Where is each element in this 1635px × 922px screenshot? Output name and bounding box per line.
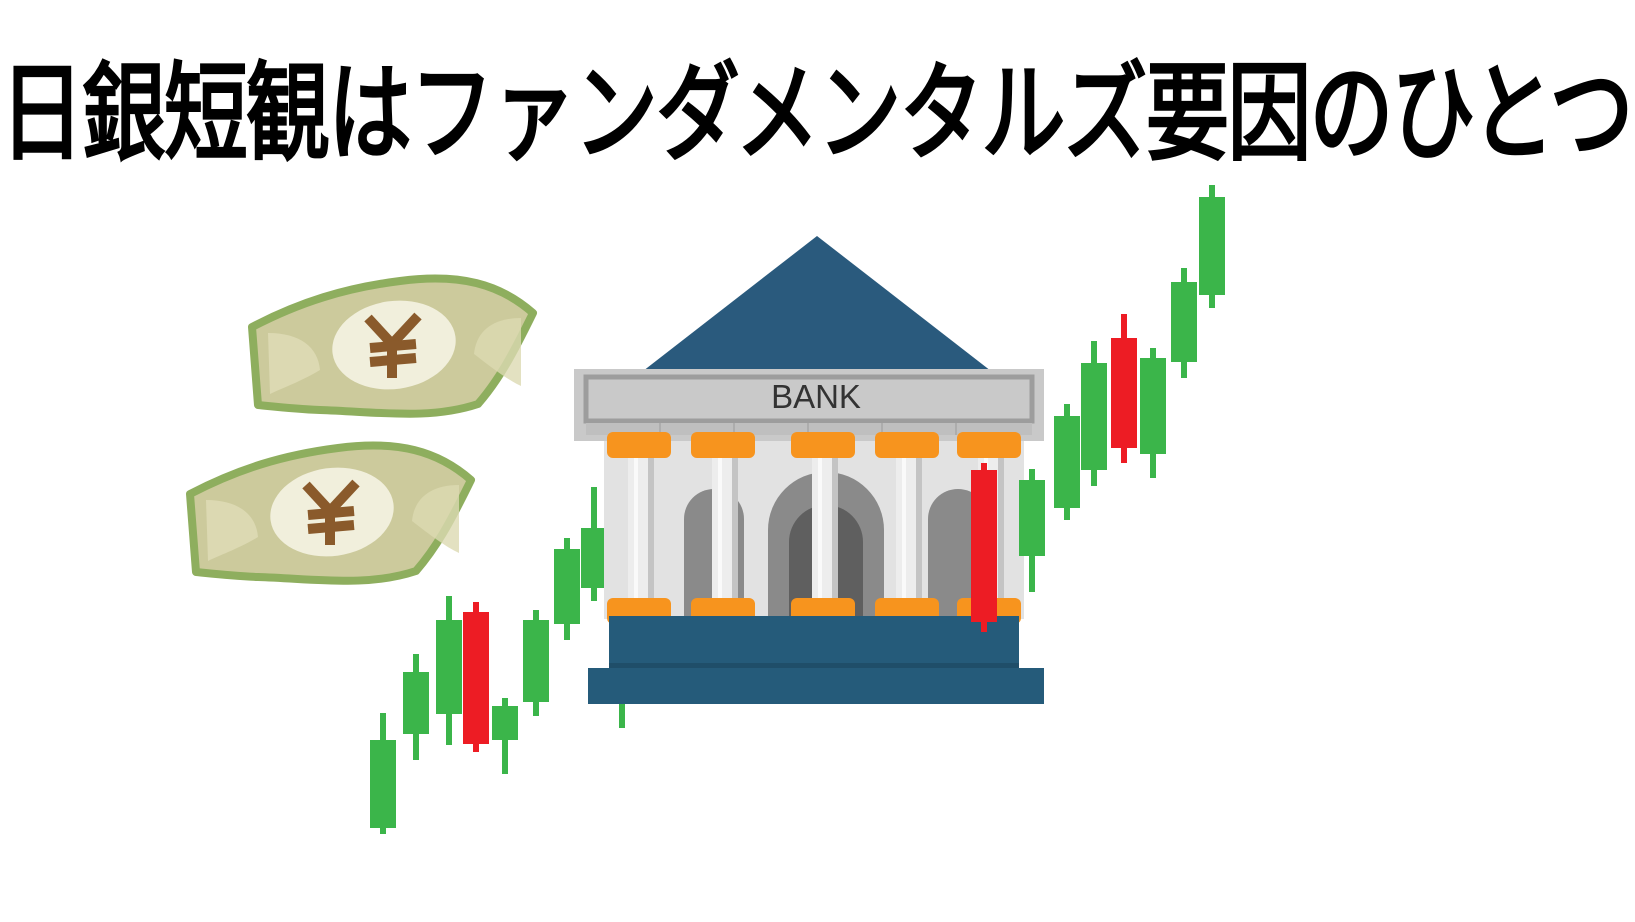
money-illustration	[0, 0, 1635, 922]
yen-banknote-icon-2	[190, 445, 471, 580]
money-svg	[0, 0, 1635, 922]
poster-canvas: 日銀短観はファンダメンタルズ要因のひとつ!	[0, 0, 1635, 922]
yen-banknote-icon-1	[252, 278, 533, 413]
